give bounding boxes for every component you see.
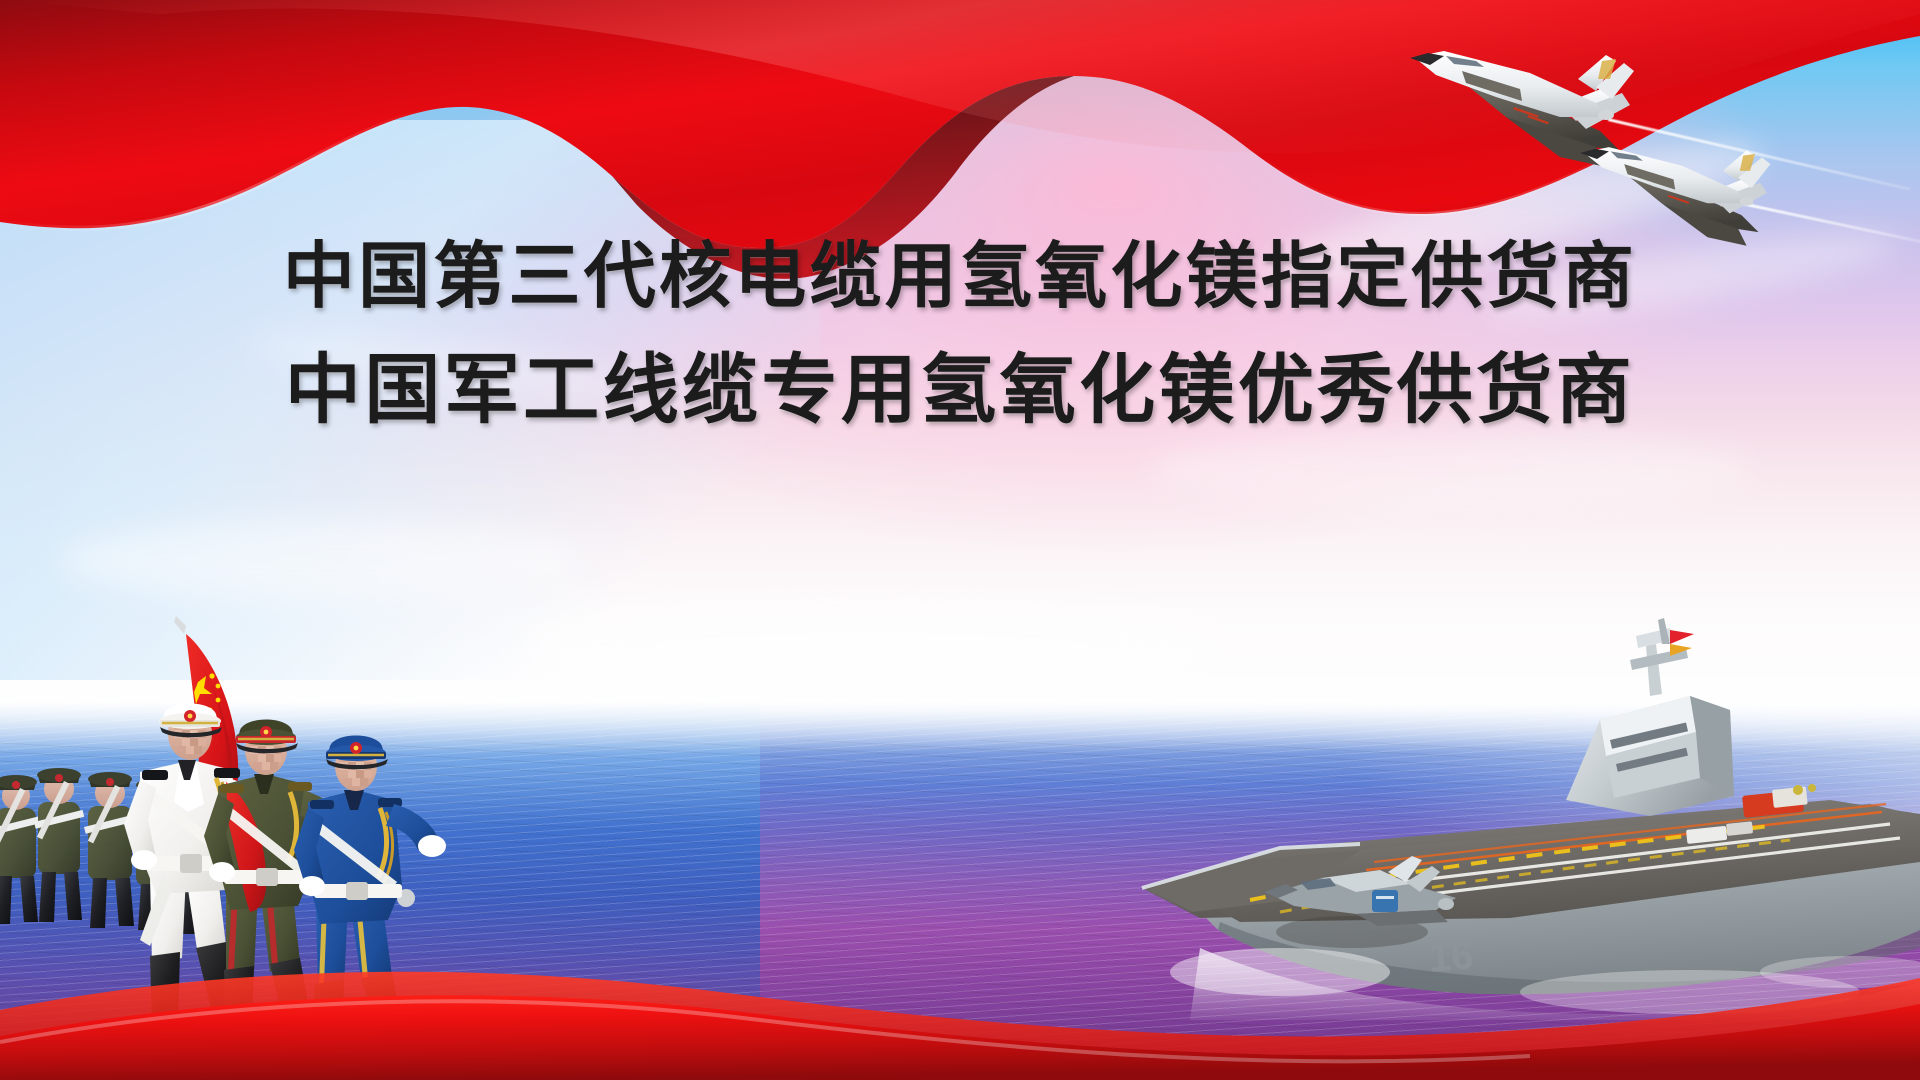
cloud-wisp: [520, 600, 1220, 690]
horizon-haze: [0, 700, 1920, 754]
red-ribbon-wave: [0, 880, 1920, 1080]
cloud-wisp: [1150, 430, 1750, 510]
marching-column: [0, 768, 224, 934]
airforce-escort: [294, 736, 446, 1060]
headline-line-1: 中国第三代核电缆用氢氧化镁指定供货商: [0, 240, 1920, 312]
fighter-jet-wing: [1580, 147, 1770, 246]
headline-block: 中国第三代核电缆用氢氧化镁指定供货商 中国军工线缆专用氢氧化镁优秀供货商: [0, 240, 1920, 428]
contrail: [1608, 118, 1911, 191]
headline-line-2: 中国军工线缆专用氢氧化镁优秀供货商: [0, 352, 1920, 428]
deck-fighter-jet: [1264, 856, 1456, 948]
carrier-hull-number: 16: [1427, 933, 1475, 981]
navy-flag-escort: [124, 704, 289, 1036]
fighter-jet-lead: [1410, 51, 1634, 167]
sea-horizon-glow: [1160, 700, 1920, 930]
honor-guard-formation: [0, 590, 510, 1060]
sea-ripples-dark: [0, 740, 1920, 1080]
fighter-jet-group: [1380, 20, 1920, 270]
cloud-wisp: [60, 520, 580, 600]
chinese-national-flag: [174, 616, 238, 837]
carrier-island: [1566, 618, 1734, 816]
banner-canvas: 中国第三代核电缆用氢氧化镁指定供货商 中国军工线缆专用氢氧化镁优秀供货商: [0, 0, 1920, 1080]
sea-blue-left: [0, 700, 760, 1080]
army-flag-bearer: [204, 720, 415, 1048]
sea-background: [0, 700, 1920, 1080]
sea-ripples: [0, 700, 1920, 1080]
aircraft-carrier: 16: [1130, 600, 1920, 1020]
